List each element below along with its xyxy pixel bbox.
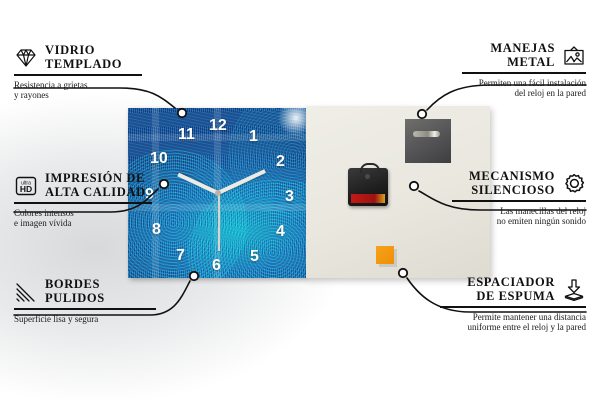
mechanism-hanger-loop: [360, 163, 380, 173]
clock-numeral: 11: [178, 127, 195, 143]
feature-divider: [14, 74, 142, 76]
feature-divider: [440, 306, 586, 308]
feature-bordes-pulidos[interactable]: BORDES PULIDOS Superficie lisa y segura: [14, 278, 156, 324]
svg-text:HD: HD: [20, 184, 32, 194]
feature-title: MECANISMO SILENCIOSO: [469, 170, 555, 197]
clock-numeral: 2: [276, 154, 285, 170]
clock-numeral: 10: [150, 151, 168, 167]
clock-face-image: 12 1 2 3 4 5 6 7 8 9 10 11: [128, 108, 306, 278]
feature-divider: [14, 308, 156, 310]
clock-mechanism-box: [348, 168, 388, 206]
feature-description: Permiten una fácil instalación del reloj…: [462, 78, 586, 99]
clock-numeral: 4: [276, 224, 285, 240]
clock-numeral: 6: [212, 258, 221, 274]
feature-divider: [462, 72, 586, 74]
feature-title: ESPACIADOR DE ESPUMA: [467, 276, 555, 303]
feature-mecanismo-silencioso[interactable]: MECANISMO SILENCIOSO Las manecillas del …: [452, 170, 586, 227]
polished-edges-icon: [14, 280, 38, 304]
feature-title: BORDES PULIDOS: [45, 278, 105, 305]
clock-numeral: 8: [152, 222, 161, 238]
mechanism-shaft: [365, 174, 370, 179]
feature-description: Permite mantener una distancia uniforme …: [440, 312, 586, 333]
feature-manejas-metal[interactable]: MANEJAS METAL Permiten una fácil instala…: [462, 42, 586, 99]
clock-numeral: 3: [285, 189, 294, 205]
feature-espaciador-espuma[interactable]: ESPACIADOR DE ESPUMA Permite mantener un…: [440, 276, 586, 333]
feature-description: Colores intensos e imagen vívida: [14, 208, 152, 229]
clock-center-hub: [215, 190, 221, 196]
ultra-hd-icon: ultra HD: [14, 174, 38, 198]
feature-description: Superficie lisa y segura: [14, 314, 156, 325]
clock-numeral: 7: [176, 248, 185, 264]
clock-second-hand: [218, 193, 220, 251]
diamond-icon: [14, 46, 38, 70]
clock-numeral: 5: [250, 249, 259, 265]
feature-title: IMPRESIÓN DE ALTA CALIDAD: [45, 172, 146, 199]
hanger-slot: [413, 131, 440, 137]
infographic-canvas: 12 1 2 3 4 5 6 7 8 9 10 11: [0, 0, 600, 400]
feature-vidrio-templado[interactable]: VIDRIO TEMPLADO Resistencia a grietas y …: [14, 44, 142, 101]
feature-divider: [452, 200, 586, 202]
feature-description: Resistencia a grietas y rayones: [14, 80, 142, 101]
mechanism-label: [351, 194, 385, 203]
gear-icon: [562, 172, 586, 196]
feature-impresion-alta-calidad[interactable]: ultra HD IMPRESIÓN DE ALTA CALIDAD Color…: [14, 172, 152, 229]
foam-spacer-square: [376, 246, 394, 264]
picture-hanger-icon: [562, 44, 586, 68]
metal-hanger-plate: [405, 119, 451, 163]
feature-title: MANEJAS METAL: [490, 42, 555, 69]
foam-spacer-arrow-icon: [562, 278, 586, 302]
feature-divider: [14, 202, 152, 204]
clock-numeral: 12: [209, 118, 227, 134]
feature-title: VIDRIO TEMPLADO: [45, 44, 122, 71]
feature-description: Las manecillas del reloj no emiten ningú…: [452, 206, 586, 227]
clock-numeral: 1: [249, 129, 258, 145]
